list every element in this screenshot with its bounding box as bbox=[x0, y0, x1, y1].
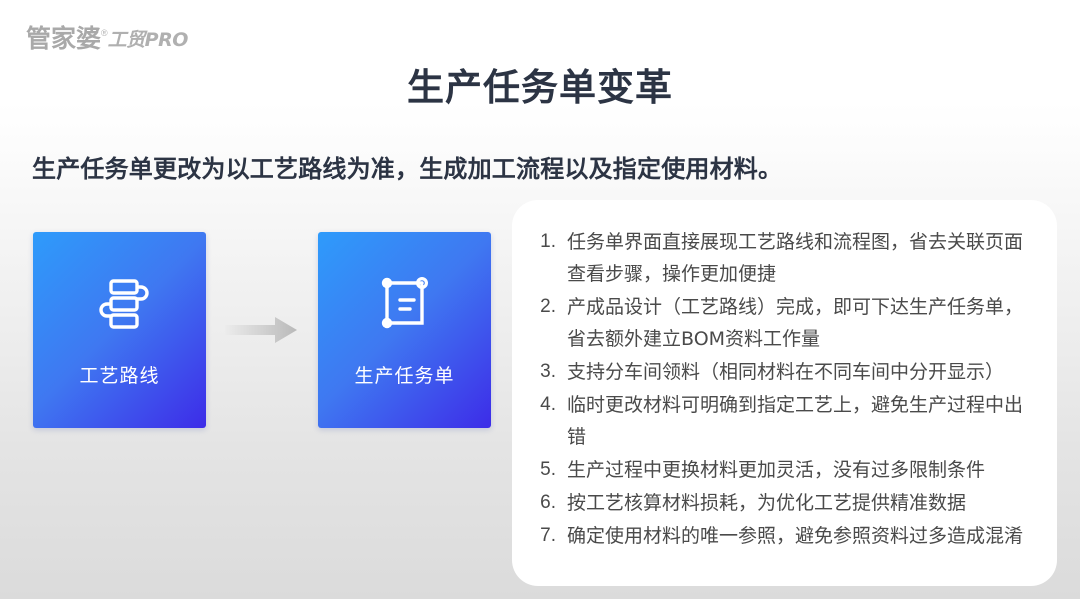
list-item: 4. 临时更改材料可明确到指定工艺上，避免生产过程中出错 bbox=[534, 389, 1035, 453]
benefits-list: 1. 任务单界面直接展现工艺路线和流程图，省去关联页面查看步骤，操作更加便捷 2… bbox=[512, 200, 1057, 552]
list-item-text: 产成品设计（工艺路线）完成，即可下达生产任务单，省去额外建立BOM资料工作量 bbox=[567, 291, 1035, 355]
arrow-right-icon bbox=[225, 315, 299, 345]
list-item-text: 按工艺核算材料损耗，为优化工艺提供精准数据 bbox=[567, 487, 1035, 519]
slide-root: 管家婆 ® 工贸PRO 生产任务单变革 生产任务单更改为以工艺路线为准，生成加工… bbox=[0, 0, 1080, 599]
flow-card-production-order[interactable]: 生产任务单 bbox=[318, 232, 491, 428]
list-item: 1. 任务单界面直接展现工艺路线和流程图，省去关联页面查看步骤，操作更加便捷 bbox=[534, 226, 1035, 290]
page-subtitle: 生产任务单更改为以工艺路线为准，生成加工流程以及指定使用材料。 bbox=[32, 149, 782, 184]
flow-card-label: 工艺路线 bbox=[79, 361, 159, 388]
list-item-text: 临时更改材料可明确到指定工艺上，避免生产过程中出错 bbox=[567, 389, 1035, 453]
list-item: 3. 支持分车间领料（相同材料在不同车间中分开显示） bbox=[534, 356, 1035, 388]
list-item-number: 5. bbox=[534, 454, 567, 486]
benefits-panel: 1. 任务单界面直接展现工艺路线和流程图，省去关联页面查看步骤，操作更加便捷 2… bbox=[512, 200, 1057, 586]
brand-product-name: 工贸PRO bbox=[108, 31, 188, 50]
flow-card-label: 生产任务单 bbox=[354, 361, 454, 388]
brand-logo: 管家婆 ® 工贸PRO bbox=[26, 26, 188, 51]
list-item-number: 6. bbox=[534, 487, 567, 519]
list-item-number: 7. bbox=[534, 520, 567, 552]
flow-diagram: 工艺路线 bbox=[33, 232, 491, 428]
brand-name-cn: 管家婆 bbox=[26, 26, 101, 51]
flow-arrow bbox=[206, 315, 318, 345]
list-item: 2. 产成品设计（工艺路线）完成，即可下达生产任务单，省去额外建立BOM资料工作… bbox=[534, 291, 1035, 355]
list-item-number: 3. bbox=[534, 356, 567, 388]
flow-card-process-route[interactable]: 工艺路线 bbox=[33, 232, 206, 428]
list-item: 5. 生产过程中更换材料更加灵活，没有过多限制条件 bbox=[534, 454, 1035, 486]
list-item-text: 确定使用材料的唯一参照，避免参照资料过多造成混淆 bbox=[567, 520, 1035, 552]
flowchart-icon bbox=[89, 273, 151, 335]
list-item-number: 4. bbox=[534, 389, 567, 421]
list-item-text: 任务单界面直接展现工艺路线和流程图，省去关联页面查看步骤，操作更加便捷 bbox=[567, 226, 1035, 290]
list-item-number: 1. bbox=[534, 226, 567, 258]
list-item: 6. 按工艺核算材料损耗，为优化工艺提供精准数据 bbox=[534, 487, 1035, 519]
list-item-text: 支持分车间领料（相同材料在不同车间中分开显示） bbox=[567, 356, 1035, 388]
list-item-text: 生产过程中更换材料更加灵活，没有过多限制条件 bbox=[567, 454, 1035, 486]
task-document-icon bbox=[374, 273, 436, 335]
list-item-number: 2. bbox=[534, 291, 567, 323]
page-title: 生产任务单变革 bbox=[0, 57, 1080, 111]
list-item: 7. 确定使用材料的唯一参照，避免参照资料过多造成混淆 bbox=[534, 520, 1035, 552]
registered-mark-icon: ® bbox=[101, 29, 108, 38]
